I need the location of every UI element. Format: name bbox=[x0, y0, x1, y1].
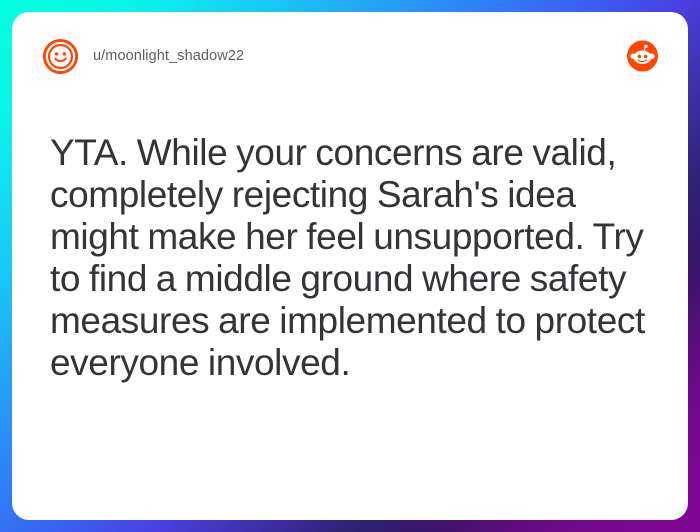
comment-text: YTA. While your concerns are valid, comp… bbox=[50, 132, 650, 384]
card-header: u/moonlight_shadow22 bbox=[38, 34, 662, 78]
reddit-snoo-logo-icon bbox=[627, 41, 658, 72]
card-body: YTA. While your concerns are valid, comp… bbox=[38, 132, 662, 384]
smiley-face-avatar-icon bbox=[42, 38, 79, 75]
reddit-comment-card: u/moonlight_shadow22 bbox=[12, 12, 688, 520]
gradient-background: u/moonlight_shadow22 bbox=[0, 0, 700, 532]
user-avatar[interactable] bbox=[38, 38, 79, 75]
username-label: u/moonlight_shadow22 bbox=[93, 48, 244, 64]
